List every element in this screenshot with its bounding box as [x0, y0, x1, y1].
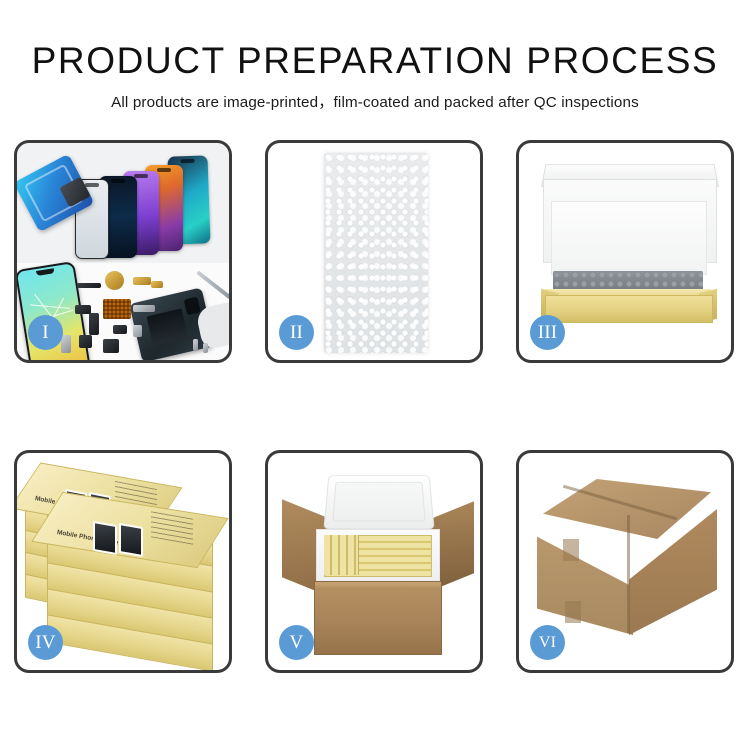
step-badge-4: IV [28, 625, 63, 660]
step-panel-1: I [14, 140, 232, 363]
connector-part [75, 305, 91, 314]
foam-sheet [551, 201, 707, 275]
carton-left-face [537, 515, 633, 635]
step-badge-3: III [530, 315, 565, 350]
chip-array-part [103, 299, 131, 319]
camera-part [79, 335, 92, 348]
carton-tape-tab-lower [565, 601, 581, 623]
step-badge-1: I [28, 315, 63, 350]
header: PRODUCT PREPARATION PROCESS All products… [0, 0, 750, 125]
step-panel-2: II [265, 140, 483, 363]
box-front-panel [545, 295, 713, 323]
step-badge-2: II [279, 315, 314, 350]
gold-connector-part [133, 277, 151, 285]
screw-part [203, 343, 208, 353]
page-subtitle: All products are image-printed，film-coat… [0, 79, 750, 110]
vibrator-part [103, 339, 119, 353]
battery [146, 308, 188, 345]
step-badge-6: VI [530, 625, 565, 660]
bubble-wrap-bag [324, 153, 428, 353]
step-panel-6: VI [516, 450, 734, 673]
ic-chip-part [89, 313, 99, 335]
screw-part [193, 339, 198, 351]
step-panel-4: Mobile Phone Spare Parts Mobile Phone Sp… [14, 450, 232, 673]
sim-tray-part [61, 335, 71, 353]
phone-notch [85, 183, 99, 187]
step-panel-3: III [516, 140, 734, 363]
flex-cable-part [77, 283, 101, 288]
shield-part [133, 325, 142, 337]
crack-line [30, 304, 70, 308]
phone-notch [134, 174, 148, 178]
phone-notch [181, 159, 195, 163]
gold-connector-part [151, 281, 163, 288]
camera-module [184, 297, 201, 316]
process-steps-grid: I II [14, 140, 736, 673]
foam-case-lid [323, 475, 434, 529]
bracket-part [133, 305, 155, 312]
product-preparation-infographic: PRODUCT PREPARATION PROCESS All products… [0, 0, 750, 750]
carton-corner-edge [627, 515, 630, 633]
phone-notch [157, 168, 171, 172]
carton-tape-tab-upper [563, 539, 579, 561]
yellow-boxes-bundle-side [324, 535, 359, 575]
step-panel-5: V [265, 450, 483, 673]
step-badge-5: V [279, 625, 314, 660]
phone-notch [111, 179, 125, 183]
ic-chip-part [113, 325, 127, 334]
box-window-screenshot [119, 523, 143, 557]
box-window-screenshot [93, 521, 117, 555]
page-title: PRODUCT PREPARATION PROCESS [0, 0, 750, 79]
speaker-part [105, 271, 124, 290]
carton-front-panel [314, 581, 442, 655]
